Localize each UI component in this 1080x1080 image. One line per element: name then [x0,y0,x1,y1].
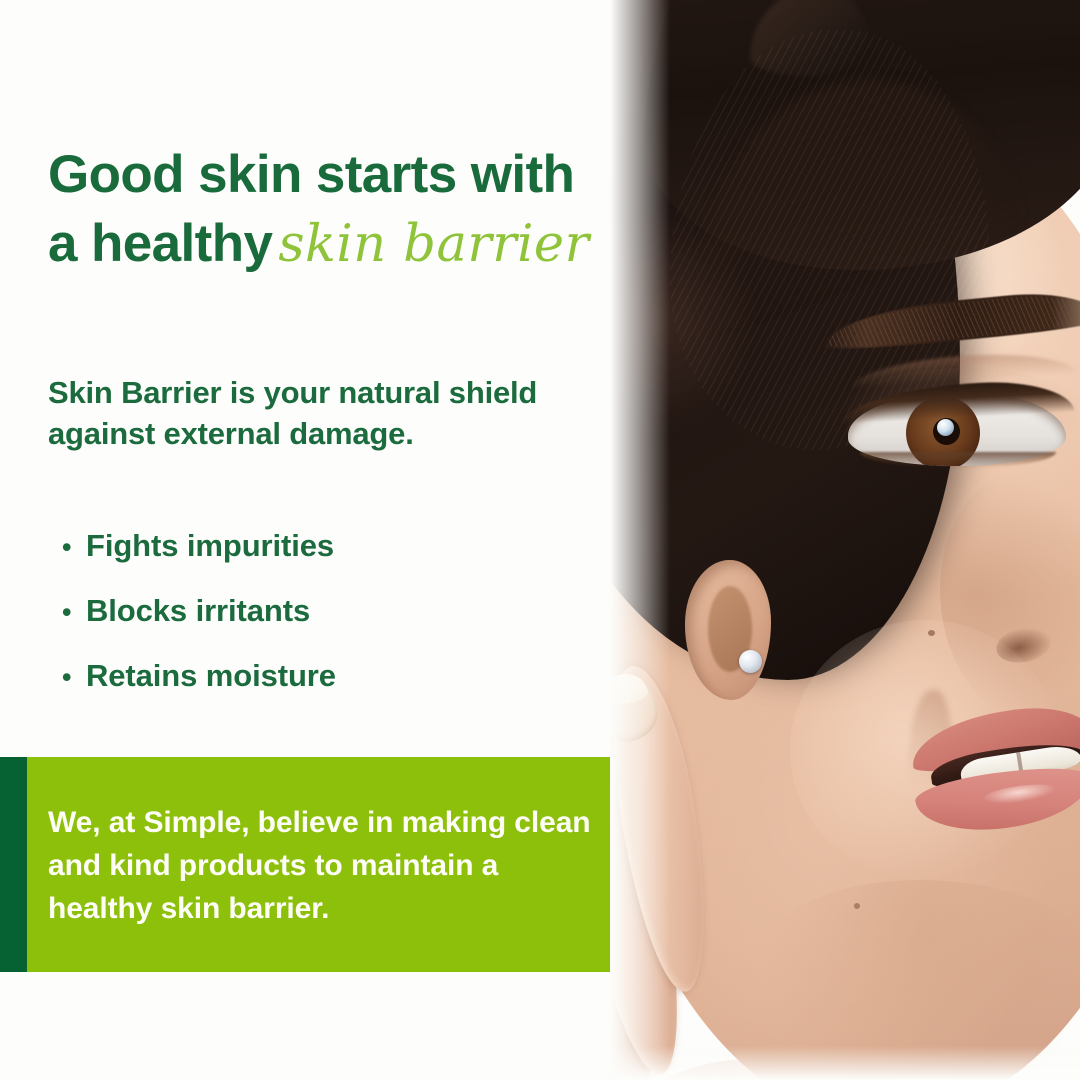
beauty-mark-jaw [854,903,860,909]
page-title: Good skin starts with a healthyskin barr… [48,140,668,279]
benefits-list: • Fights impurities • Blocks irritants •… [62,528,336,723]
list-item: • Retains moisture [62,658,336,694]
bullet-icon: • [62,599,86,626]
bullet-icon: • [62,664,86,691]
list-item-label: Retains moisture [86,658,336,694]
eye-catchlight [937,419,954,436]
list-item-label: Blocks irritants [86,593,310,629]
bullet-icon: • [62,534,86,561]
list-item: • Blocks irritants [62,593,336,629]
beauty-mark-cheek [928,630,935,636]
headline-line-2-script: skin barrier [278,215,589,274]
headline-line-2-plain: a healthy [48,214,272,273]
subheading: Skin Barrier is your natural shield agai… [48,372,628,454]
list-item: • Fights impurities [62,528,336,564]
list-item-label: Fights impurities [86,528,334,564]
headline-line-1: Good skin starts with [48,145,574,204]
text-column: Good skin starts with a healthyskin barr… [0,0,700,1080]
skincare-social-post: Good skin starts with a healthyskin barr… [0,0,1080,1080]
